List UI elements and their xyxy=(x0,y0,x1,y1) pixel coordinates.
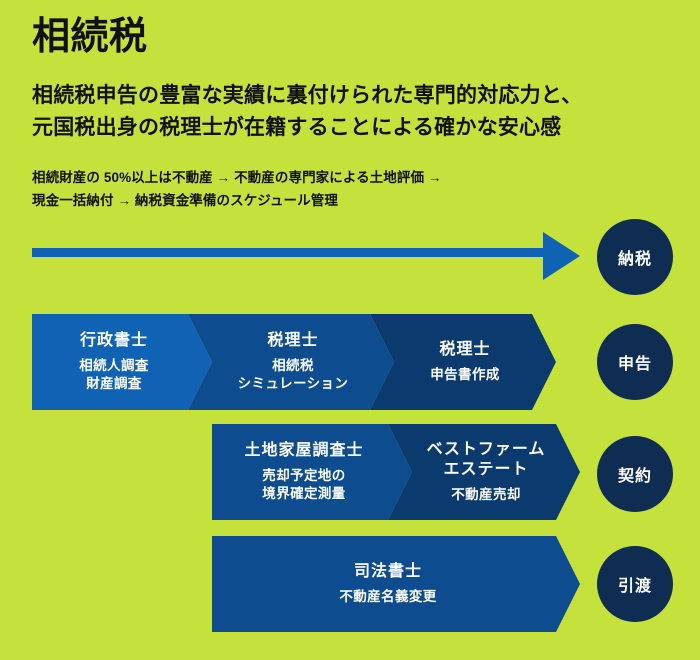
inheritance-tax-infographic: { "header": { "title": "相続税", "subtitle_… xyxy=(0,0,700,660)
subtitle: 相続税申告の豊富な実績に裏付けられた専門的対応力と、 元国税出身の税理士が在籍す… xyxy=(32,80,672,144)
chevron-row-filing: 行政書士相続人調査財産調査税理士相続税シミュレーション税理士申告書作成 xyxy=(32,314,580,410)
chevron-segment-title-line: ベストファーム xyxy=(427,440,546,460)
chevron-segment-title: 税理士 xyxy=(267,331,318,351)
chevron-segment-subtitle: 申告書作成 xyxy=(430,366,500,384)
chevron-segment-subtitle: 不動産名義変更 xyxy=(339,588,436,606)
stage-badge-handover: 引渡 xyxy=(597,546,673,622)
stage-badge-payment: 納税 xyxy=(597,219,673,295)
chevron-segment-subtitle-line: 申告書作成 xyxy=(430,366,500,384)
chevron-row-handover: 司法書士不動産名義変更 xyxy=(212,536,580,632)
chevron-segment-subtitle-line: 不動産名義変更 xyxy=(339,588,436,606)
chevron-segment-subtitle-line: 売却予定地の xyxy=(262,467,345,485)
chevron-segment-subtitle: 売却予定地の境界確定測量 xyxy=(262,467,345,503)
chevron-segment-title: ベストファームエステート xyxy=(427,440,546,480)
subtitle-line-2: 元国税出身の税理士が在籍することによる確かな安心感 xyxy=(32,112,672,144)
chevron-segment-title: 司法書士 xyxy=(354,562,422,582)
lead-line-1: 相続財産の 50%以上は不動産 → 不動産の専門家による土地評価 → xyxy=(32,166,672,189)
chevron-segment-subtitle: 相続税シミュレーション xyxy=(238,357,349,393)
chevron-segment-subtitle-line: シミュレーション xyxy=(238,375,349,393)
chevron-segment-subtitle: 不動産売却 xyxy=(451,486,521,504)
chevron-segment: 司法書士不動産名義変更 xyxy=(212,536,580,632)
chevron-segment-subtitle-line: 財産調査 xyxy=(79,375,149,393)
header-block: 相続税 相続税申告の豊富な実績に裏付けられた専門的対応力と、 元国税出身の税理士… xyxy=(32,18,672,212)
chevron-segment-title: 土地家屋調査士 xyxy=(244,441,363,461)
timeline-arrow xyxy=(32,232,580,282)
arrow-shaft xyxy=(32,248,548,257)
chevron-segment-subtitle-line: 境界確定測量 xyxy=(262,485,345,503)
chevron-segment: 行政書士相続人調査財産調査 xyxy=(32,314,212,410)
chevron-segment: 税理士相続税シミュレーション xyxy=(188,314,394,410)
stage-badge-contract: 契約 xyxy=(597,436,673,512)
chevron-segment-title: 税理士 xyxy=(439,340,490,360)
subtitle-line-1: 相続税申告の豊富な実績に裏付けられた専門的対応力と、 xyxy=(32,80,672,112)
chevron-segment-title: 行政書士 xyxy=(80,331,148,351)
chevron-segment: 税理士申告書作成 xyxy=(370,314,556,410)
chevron-segment: ベストファームエステート不動産売却 xyxy=(388,424,580,520)
chevron-segment-subtitle-line: 相続人調査 xyxy=(79,357,149,375)
chevron-segment-title-line: エステート xyxy=(427,460,546,480)
chevron-segment: 土地家屋調査士売却予定地の境界確定測量 xyxy=(212,424,412,520)
stage-badge-filing: 申告 xyxy=(597,324,673,400)
page-title: 相続税 xyxy=(32,18,672,58)
chevron-segment-subtitle-line: 相続税 xyxy=(238,357,349,375)
chevron-segment-subtitle-line: 不動産売却 xyxy=(451,486,521,504)
chevron-row-contract: 土地家屋調査士売却予定地の境界確定測量ベストファームエステート不動産売却 xyxy=(212,424,580,520)
lead-text: 相続財産の 50%以上は不動産 → 不動産の専門家による土地評価 → 現金一括納… xyxy=(32,166,672,212)
arrow-right-icon xyxy=(543,232,580,280)
chevron-segment-subtitle: 相続人調査財産調査 xyxy=(79,357,149,393)
lead-line-2: 現金一括納付 → 納税資金準備のスケジュール管理 xyxy=(32,189,672,212)
